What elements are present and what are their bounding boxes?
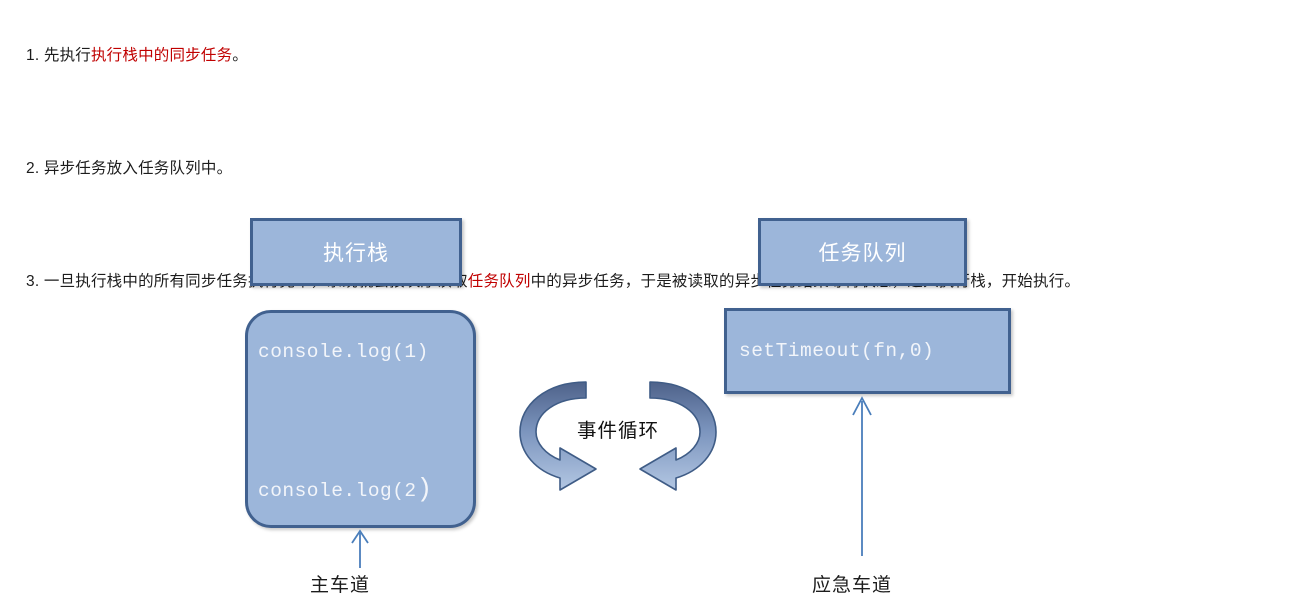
note-1-seg-0: 1. 先执行 <box>26 47 91 64</box>
exec-stack-code-line-2-paren: ) <box>417 474 433 504</box>
caption-emergency-lane: 应急车道 <box>812 570 892 597</box>
note-line-1: 1. 先执行执行栈中的同步任务。 <box>8 6 1298 105</box>
task-queue-code-line: setTimeout(fn,0) <box>739 340 934 362</box>
exec-stack-code-line-1: console.log(1) <box>258 341 429 363</box>
exec-stack-body-box: console.log(1) console.log(2) <box>245 310 476 528</box>
note-1-seg-1-highlight: 执行栈中的同步任务 <box>91 47 232 64</box>
event-loop-label: 事件循环 <box>553 414 683 443</box>
exec-stack-header-box: 执行栈 <box>250 218 462 286</box>
note-3-seg-1-highlight: 任务队列 <box>468 273 531 290</box>
note-2-seg-0: 2. 异步任务放入任务队列中。 <box>26 160 232 177</box>
task-queue-body-box: setTimeout(fn,0) <box>724 308 1011 394</box>
task-queue-header-box: 任务队列 <box>758 218 967 286</box>
exec-stack-code-line-2: console.log(2) <box>258 480 433 502</box>
emergency-lane-arrow-icon <box>832 393 892 558</box>
task-queue-header-label: 任务队列 <box>819 237 907 267</box>
note-line-2: 2. 异步任务放入任务队列中。 <box>8 119 1298 218</box>
note-line-3: 3. 一旦执行栈中的所有同步任务执行完毕，系统就会按次序读取任务队列中的异步任务… <box>8 232 1248 331</box>
exec-stack-code-line-2-text: console.log(2 <box>258 480 417 502</box>
main-lane-arrow-icon <box>330 528 390 568</box>
notes-block: 1. 先执行执行栈中的同步任务。 2. 异步任务放入任务队列中。 3. 一旦执行… <box>8 6 1298 331</box>
exec-stack-header-label: 执行栈 <box>323 237 389 267</box>
caption-main-lane: 主车道 <box>310 570 370 597</box>
note-1-seg-2: 。 <box>232 47 248 64</box>
